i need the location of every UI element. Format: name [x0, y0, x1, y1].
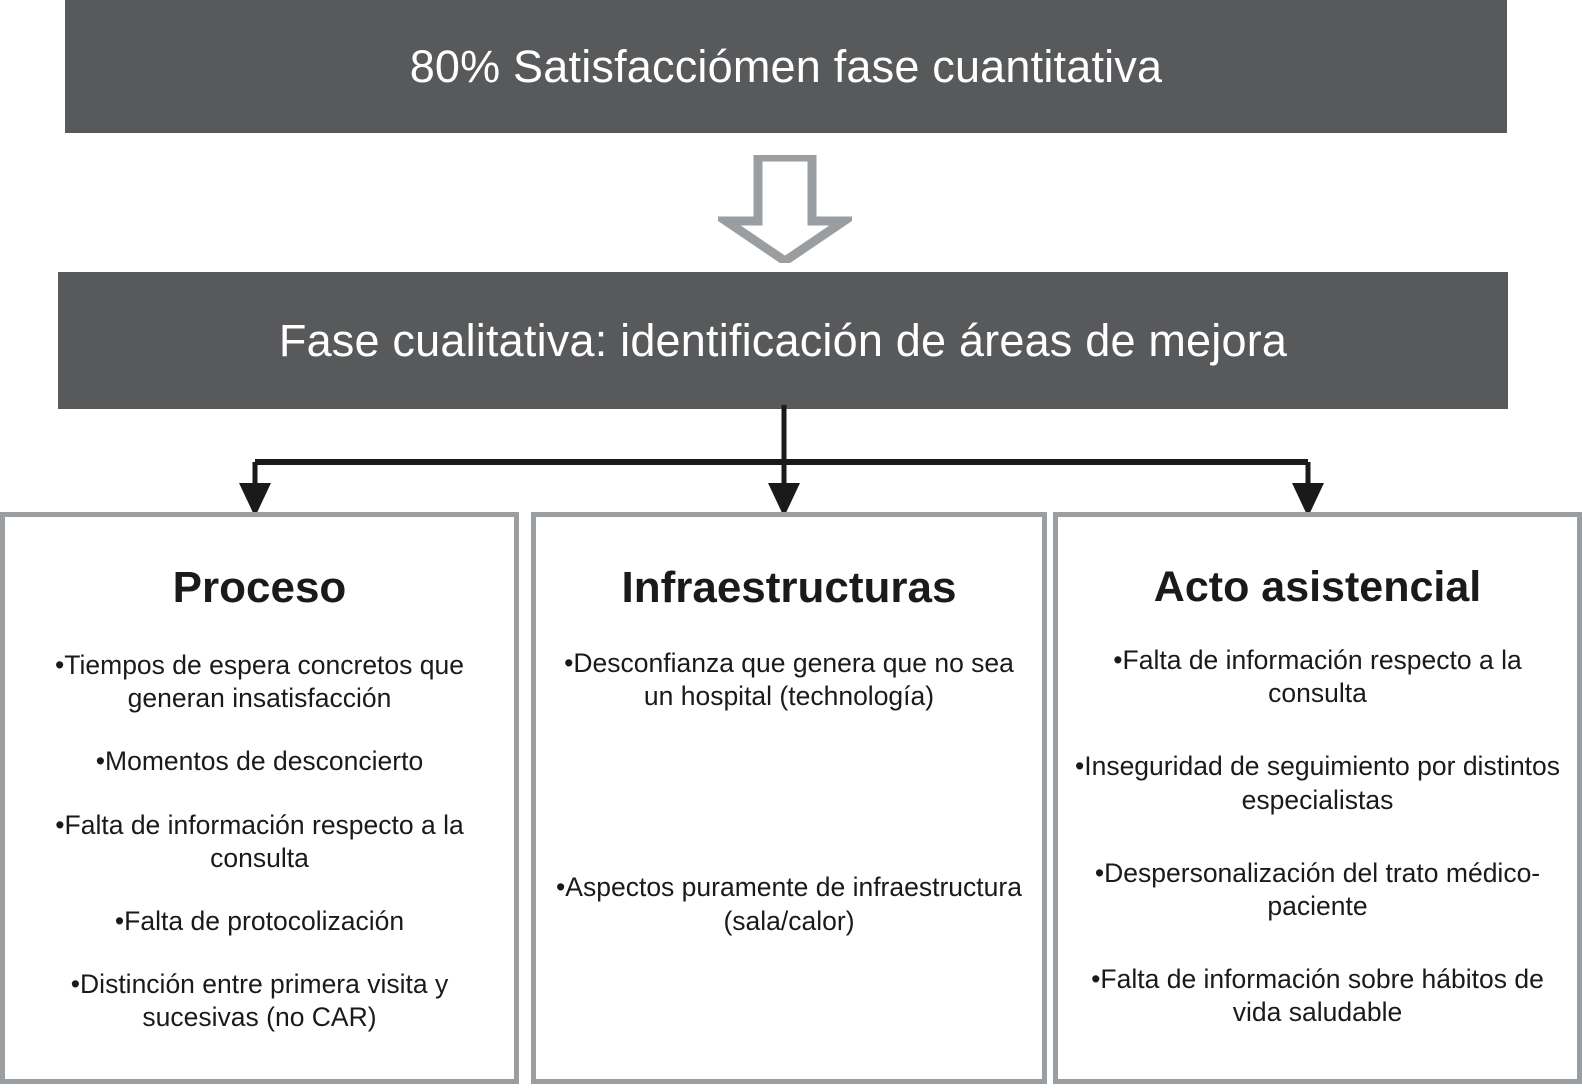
category-box-acto-asistencial: Acto asistencial •Falta de información r… — [1053, 512, 1582, 1084]
quantitative-phase-banner: 80% Satisfacciómen fase cuantitativa — [65, 0, 1507, 133]
list-item: •Falta de información respecto a la cons… — [15, 809, 504, 875]
list-item: •Tiempos de espera concretos que generan… — [15, 649, 504, 715]
bullet-list-infraestructuras: •Desconfianza que genera que no sea un h… — [546, 647, 1032, 938]
list-item: •Inseguridad de seguimiento por distinto… — [1068, 750, 1567, 816]
bullet-list-proceso: •Tiempos de espera concretos que generan… — [15, 649, 504, 1034]
list-item: •Falta de información sobre hábitos de v… — [1068, 963, 1567, 1029]
category-box-infraestructuras: Infraestructuras •Desconfianza que gener… — [531, 512, 1047, 1084]
category-box-proceso: Proceso •Tiempos de espera concretos que… — [0, 512, 519, 1084]
bullet-list-acto-asistencial: •Falta de información respecto a la cons… — [1068, 644, 1567, 1029]
branch-connector — [0, 405, 1582, 520]
category-title-infraestructuras: Infraestructuras — [546, 565, 1032, 611]
list-item: •Desconfianza que genera que no sea un h… — [546, 647, 1032, 713]
list-item: •Falta de información respecto a la cons… — [1068, 644, 1567, 710]
list-item: •Aspectos puramente de infraestructura (… — [546, 871, 1032, 937]
list-item: •Distinción entre primera visita y suces… — [15, 968, 504, 1034]
qualitative-phase-banner: Fase cualitativa: identificación de área… — [58, 272, 1508, 409]
category-title-acto-asistencial: Acto asistencial — [1068, 565, 1567, 610]
block-arrow-down-icon — [718, 155, 852, 263]
list-item: •Despersonalización del trato médico-pac… — [1068, 857, 1567, 923]
list-item: •Momentos de desconcierto — [15, 745, 504, 778]
list-item: •Falta de protocolización — [15, 905, 504, 938]
quantitative-phase-banner-label: 80% Satisfacciómen fase cuantitativa — [410, 41, 1163, 93]
qualitative-phase-banner-label: Fase cualitativa: identificación de área… — [279, 315, 1287, 367]
category-title-proceso: Proceso — [15, 565, 504, 611]
slide-canvas: 80% Satisfacciómen fase cuantitativa Fas… — [0, 0, 1582, 1088]
